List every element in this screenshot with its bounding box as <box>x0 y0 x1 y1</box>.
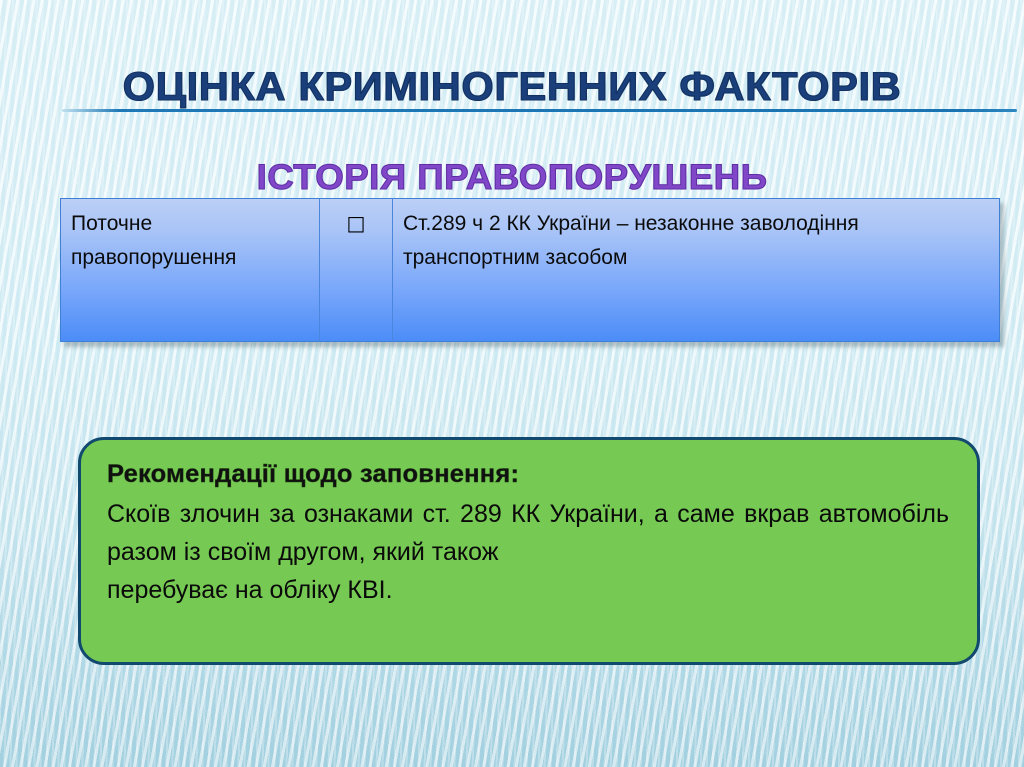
offence-table: Поточне правопорушення □ Ст.289 ч 2 КК У… <box>60 198 1000 342</box>
recommendation-body-last-line: перебуває на обліку КВІ. <box>107 571 949 609</box>
offence-table-grid: Поточне правопорушення □ Ст.289 ч 2 КК У… <box>60 198 1000 342</box>
table-row: Поточне правопорушення □ Ст.289 ч 2 КК У… <box>61 199 1000 342</box>
recommendation-panel: Рекомендації щодо заповнення: Скоїв злоч… <box>78 437 980 665</box>
recommendation-heading: Рекомендації щодо заповнення: <box>107 460 966 489</box>
page-title: ОЦІНКА КРИМІНОГЕННИХ ФАКТОРІВ <box>0 65 1024 110</box>
page-subtitle: ІСТОРІЯ ПРАВОПОРУШЕНЬ <box>0 158 1024 198</box>
table-cell-label: Поточне правопорушення <box>61 199 320 342</box>
slide-canvas: ОЦІНКА КРИМІНОГЕННИХ ФАКТОРІВ ІСТОРІЯ ПР… <box>0 0 1024 767</box>
recommendation-body: Скоїв злочин за ознаками ст. 289 КК Укра… <box>107 495 949 571</box>
table-cell-checkbox[interactable]: □ <box>320 199 393 342</box>
checkbox-empty-icon[interactable]: □ <box>347 211 366 235</box>
table-cell-value: Ст.289 ч 2 КК України – незаконне заволо… <box>393 199 1000 342</box>
